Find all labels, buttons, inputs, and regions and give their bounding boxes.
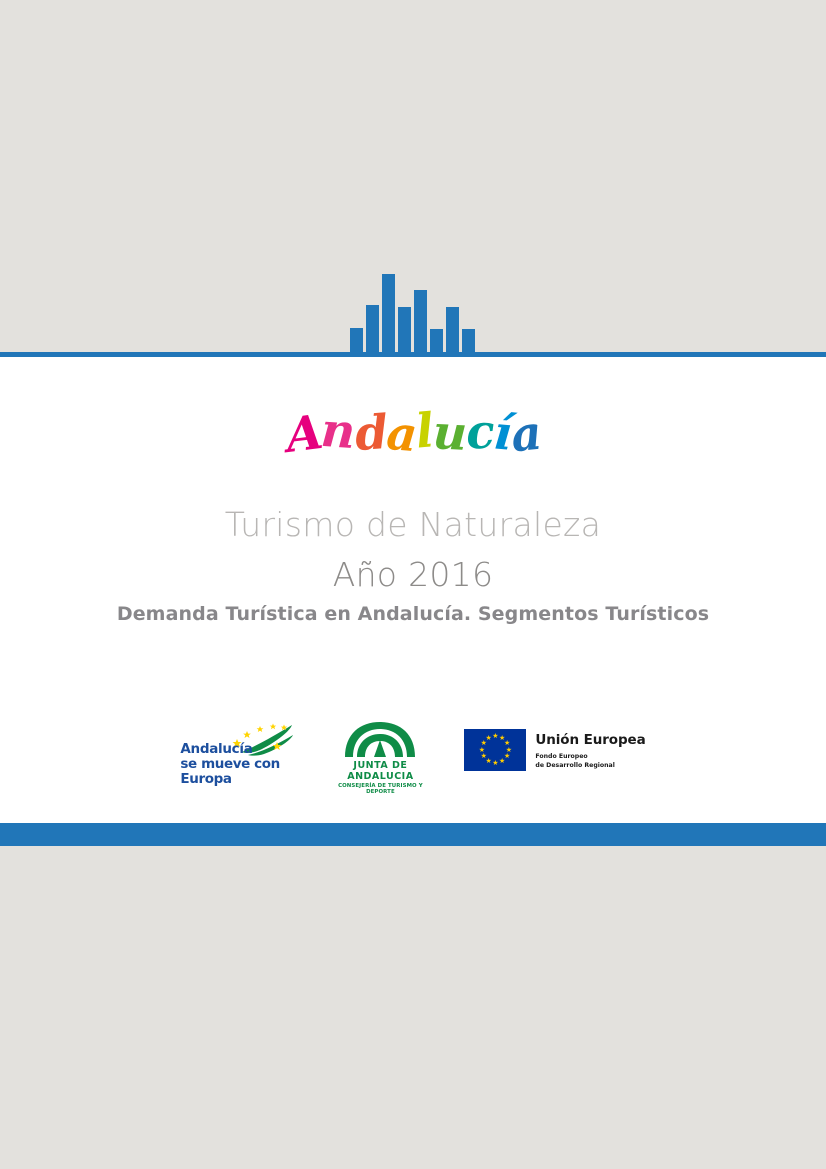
logo-junta-line1: JUNTA DE ANDALUCIA [332,760,428,782]
cover-title: Turismo de Naturaleza [0,505,826,544]
eu-star-icon: ★ [478,747,485,754]
institutional-logo-strip: Andalucía se mueve con Europa JUNTA DE A… [0,721,826,779]
chart-bar [366,305,379,352]
eu-title: Unión Europea [535,732,645,748]
eu-subtitle: Fondo Europeo de Desarrollo Regional [535,753,645,770]
chart-bar [350,328,363,352]
logo-junta-de-andalucia: JUNTA DE ANDALUCIA CONSEJERÍA DE TURISMO… [332,721,428,779]
andalucia-wordmark: Andalucía [286,409,540,456]
brand-letter: a [384,410,417,459]
brand-letter: n [320,407,356,456]
logo-union-europea: ★★★★★★★★★★★★ Unión Europea Fondo Europeo… [464,722,645,778]
eu-star-icon: ★ [480,753,487,760]
cover-year: Año 2016 [0,555,826,594]
andalucia-brand-logo: Andalucía [0,409,826,456]
chart-bar [462,329,475,352]
chart-bar [398,307,411,352]
eu-star-icon: ★ [492,760,499,767]
brand-letter: A [284,409,325,460]
brand-letter: c [465,408,495,456]
junta-arches-icon [343,721,417,759]
chart-bar [382,274,395,352]
brand-letter: d [353,409,388,458]
logo-europa-text: Andalucía se mueve con Europa [180,742,296,787]
logo-europa-line2: se mueve con Europa [180,757,296,787]
chart-bar [414,290,427,352]
logo-europa-line1: Andalucía [180,742,296,757]
eu-flag-icon: ★★★★★★★★★★★★ [464,729,526,771]
chart-bar [430,329,443,352]
brand-letter: a [508,410,542,460]
logo-junta-line2: CONSEJERÍA DE TURISMO Y DEPORTE [332,783,428,795]
eu-subtitle-line1: Fondo Europeo [535,753,645,761]
footer-background [0,846,826,1169]
cover-subtitle: Demanda Turística en Andalucía. Segmento… [0,603,826,625]
decorative-bar-chart [350,272,482,352]
bottom-blue-band [0,823,826,846]
eu-subtitle-line2: de Desarrollo Regional [535,762,645,770]
chart-bar [446,307,459,352]
top-background-band [0,0,826,352]
brand-letter: u [432,409,468,458]
cover-content-sheet: Andalucía Turismo de Naturaleza Año 2016… [0,357,826,823]
eu-star-icon: ★ [485,735,492,742]
eu-star-icon: ★ [499,758,506,765]
logo-andalucia-se-mueve-con-europa: Andalucía se mueve con Europa [180,722,296,778]
eu-text-block: Unión Europea Fondo Europeo de Desarroll… [535,730,645,770]
